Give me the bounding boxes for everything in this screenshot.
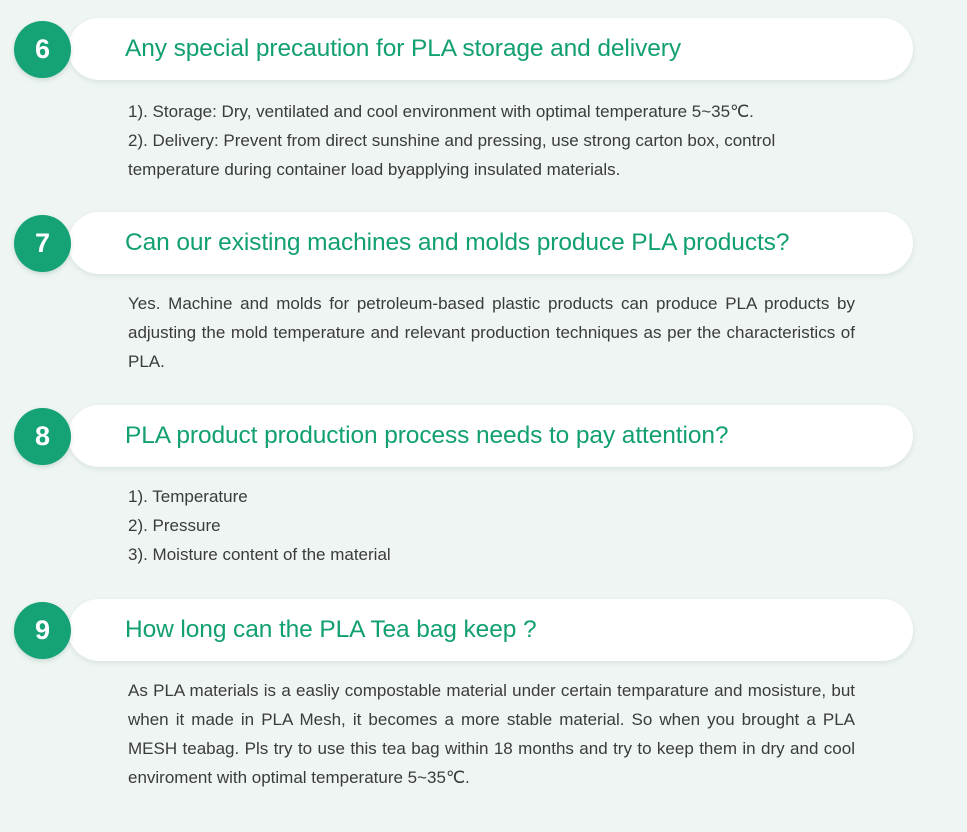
answer-line: 1). Temperature xyxy=(128,482,855,511)
answer-block-6: 1). Storage: Dry, ventilated and cool en… xyxy=(128,80,855,184)
answer-block-7: Yes. Machine and molds for petroleum-bas… xyxy=(128,274,855,376)
answer-line: 2). Delivery: Prevent from direct sunshi… xyxy=(128,126,855,184)
question-row-6[interactable]: 6 Any special precaution for PLA storage… xyxy=(68,18,913,80)
answer-line: 2). Pressure xyxy=(128,511,855,540)
question-title-8: PLA product production process needs to … xyxy=(125,405,889,467)
faq-item-9: 9 How long can the PLA Tea bag keep ? As… xyxy=(0,599,967,792)
answer-block-8: 1). Temperature 2). Pressure 3). Moistur… xyxy=(128,467,855,569)
faq-item-8: 8 PLA product production process needs t… xyxy=(0,405,967,569)
answer-line: 1). Storage: Dry, ventilated and cool en… xyxy=(128,97,855,126)
question-title-7: Can our existing machines and molds prod… xyxy=(125,212,889,274)
question-number-badge-9: 9 xyxy=(14,602,71,659)
question-number-badge-7: 7 xyxy=(14,215,71,272)
faq-item-6: 6 Any special precaution for PLA storage… xyxy=(0,18,967,184)
answer-block-9: As PLA materials is a easliy compostable… xyxy=(128,661,855,792)
question-title-6: Any special precaution for PLA storage a… xyxy=(125,18,889,80)
faq-page: 6 Any special precaution for PLA storage… xyxy=(0,0,967,832)
question-row-8[interactable]: 8 PLA product production process needs t… xyxy=(68,405,913,467)
answer-line: As PLA materials is a easliy compostable… xyxy=(128,676,855,792)
question-row-7[interactable]: 7 Can our existing machines and molds pr… xyxy=(68,212,913,274)
question-number-badge-8: 8 xyxy=(14,408,71,465)
question-number-badge-6: 6 xyxy=(14,21,71,78)
answer-line: 3). Moisture content of the material xyxy=(128,540,855,569)
answer-line: Yes. Machine and molds for petroleum-bas… xyxy=(128,289,855,376)
question-row-9[interactable]: 9 How long can the PLA Tea bag keep ? xyxy=(68,599,913,661)
faq-item-7: 7 Can our existing machines and molds pr… xyxy=(0,212,967,376)
question-title-9: How long can the PLA Tea bag keep ? xyxy=(125,599,889,661)
